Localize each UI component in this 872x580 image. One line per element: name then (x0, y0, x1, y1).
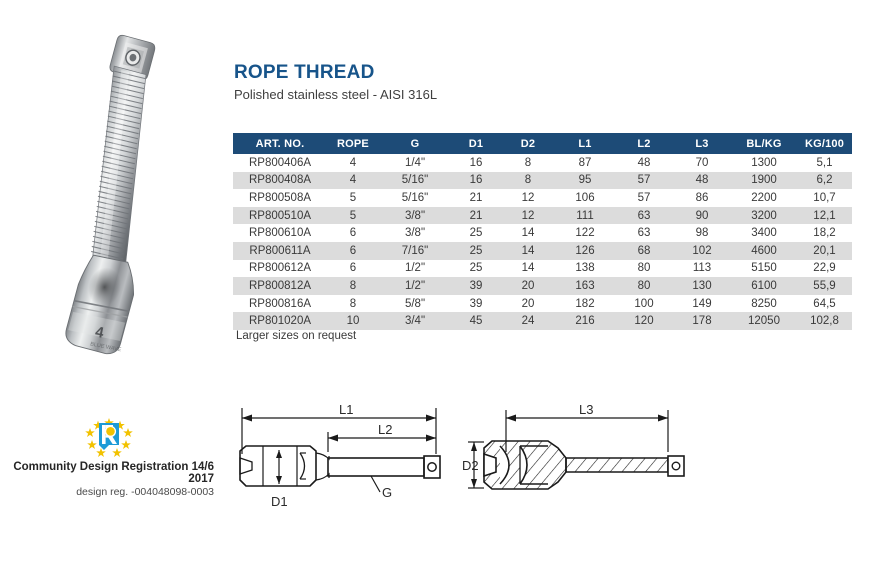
cell-g: 7/16" (379, 242, 451, 260)
cell-bl-kg: 8250 (731, 295, 797, 313)
table-row: RP801020A103/4"452421612017812050102,8 (233, 312, 852, 330)
cell-kg-100: 20,1 (797, 242, 852, 260)
label-d1: D1 (271, 494, 288, 509)
label-d2: D2 (462, 458, 479, 473)
cell-bl-kg: 5150 (731, 260, 797, 278)
cell-d2: 12 (501, 189, 555, 207)
cell-g: 1/2" (379, 260, 451, 278)
cell-bl-kg: 4600 (731, 242, 797, 260)
cell-d2: 20 (501, 277, 555, 295)
page-subtitle: Polished stainless steel - AISI 316L (234, 87, 437, 102)
cell-l1: 126 (555, 242, 615, 260)
rope-thread-terminal-photo: 4 BLUE WAVE (18, 18, 208, 363)
cell-l3: 98 (673, 224, 731, 242)
cell-l1: 106 (555, 189, 615, 207)
cell-l2: 63 (615, 207, 673, 225)
table-row: RP800611A67/16"251412668102460020,1 (233, 242, 852, 260)
column-header-rope: ROPE (327, 133, 379, 154)
column-header-bl-kg: BL/KG (731, 133, 797, 154)
cell-l1: 111 (555, 207, 615, 225)
cell-kg-100: 102,8 (797, 312, 852, 330)
cell-d1: 45 (451, 312, 501, 330)
cell-d2: 20 (501, 295, 555, 313)
column-header-l2: L2 (615, 133, 673, 154)
table-row: RP800408A45/16"16895574819006,2 (233, 172, 852, 190)
table-row: RP800812A81/2"392016380130610055,9 (233, 277, 852, 295)
cell-bl-kg: 1300 (731, 154, 797, 172)
cell-l2: 100 (615, 295, 673, 313)
table-row: RP800612A61/2"251413880113515022,9 (233, 260, 852, 278)
cell-l1: 182 (555, 295, 615, 313)
table-row: RP800508A55/16"21121065786220010,7 (233, 189, 852, 207)
table-header-row: ART. NO. ROPE G D1 D2 L1 L2 L3 BL/KG KG/… (233, 133, 852, 154)
column-header-d2: D2 (501, 133, 555, 154)
cell-kg-100: 55,9 (797, 277, 852, 295)
product-photo: 4 BLUE WAVE (18, 18, 208, 363)
cell-d1: 16 (451, 172, 501, 190)
cell-rope: 6 (327, 242, 379, 260)
column-header-g: G (379, 133, 451, 154)
section-view-drawing: L3 D2 (462, 396, 694, 516)
label-l3: L3 (579, 402, 593, 417)
cell-rope: 4 (327, 172, 379, 190)
cell-bl-kg: 3400 (731, 224, 797, 242)
column-header-kg-100: KG/100 (797, 133, 852, 154)
cell-d1: 16 (451, 154, 501, 172)
cell-art-no: RP801020A (233, 312, 327, 330)
cell-l3: 130 (673, 277, 731, 295)
table-row: RP800816A85/8"3920182100149825064,5 (233, 295, 852, 313)
cell-bl-kg: 12050 (731, 312, 797, 330)
cell-g: 3/4" (379, 312, 451, 330)
cell-l2: 63 (615, 224, 673, 242)
cell-d1: 25 (451, 224, 501, 242)
cell-g: 5/8" (379, 295, 451, 313)
label-g: G (382, 485, 392, 500)
cell-d2: 24 (501, 312, 555, 330)
cell-kg-100: 5,1 (797, 154, 852, 172)
cell-d2: 14 (501, 260, 555, 278)
cell-l3: 90 (673, 207, 731, 225)
cell-l2: 48 (615, 154, 673, 172)
cell-bl-kg: 1900 (731, 172, 797, 190)
label-l1: L1 (339, 402, 353, 417)
cell-art-no: RP800610A (233, 224, 327, 242)
cell-kg-100: 12,1 (797, 207, 852, 225)
table-row: RP800406A41/4"16887487013005,1 (233, 154, 852, 172)
community-design-line2: design reg. -004048098-0003 (0, 486, 218, 498)
cell-kg-100: 18,2 (797, 224, 852, 242)
cell-kg-100: 6,2 (797, 172, 852, 190)
cell-l1: 95 (555, 172, 615, 190)
cell-art-no: RP800612A (233, 260, 327, 278)
cell-art-no: RP800406A (233, 154, 327, 172)
cell-l2: 57 (615, 172, 673, 190)
cell-g: 3/8" (379, 224, 451, 242)
cell-g: 3/8" (379, 207, 451, 225)
cell-d1: 25 (451, 242, 501, 260)
table-note: Larger sizes on request (236, 330, 356, 342)
cell-l2: 68 (615, 242, 673, 260)
cell-bl-kg: 6100 (731, 277, 797, 295)
cell-l3: 102 (673, 242, 731, 260)
label-l2: L2 (378, 422, 392, 437)
cell-rope: 4 (327, 154, 379, 172)
column-header-art-no: ART. NO. (233, 133, 327, 154)
cell-rope: 8 (327, 277, 379, 295)
cell-g: 1/4" (379, 154, 451, 172)
table-row: RP800610A63/8"25141226398340018,2 (233, 224, 852, 242)
cell-kg-100: 22,9 (797, 260, 852, 278)
cell-d1: 39 (451, 277, 501, 295)
cell-art-no: RP800508A (233, 189, 327, 207)
cell-d1: 21 (451, 207, 501, 225)
column-header-l3: L3 (673, 133, 731, 154)
community-design-line1: Community Design Registration 14/6 2017 (0, 461, 218, 485)
cell-rope: 6 (327, 224, 379, 242)
cell-d1: 21 (451, 189, 501, 207)
cell-art-no: RP800812A (233, 277, 327, 295)
cell-d1: 25 (451, 260, 501, 278)
cell-d2: 14 (501, 242, 555, 260)
cell-l3: 48 (673, 172, 731, 190)
cell-rope: 8 (327, 295, 379, 313)
page-title: ROPE THREAD (234, 62, 375, 84)
cell-d2: 8 (501, 154, 555, 172)
cell-l1: 122 (555, 224, 615, 242)
cell-l2: 57 (615, 189, 673, 207)
cell-l2: 80 (615, 260, 673, 278)
cell-bl-kg: 3200 (731, 207, 797, 225)
cell-g: 5/16" (379, 189, 451, 207)
cell-g: 1/2" (379, 277, 451, 295)
cell-rope: 6 (327, 260, 379, 278)
cell-kg-100: 64,5 (797, 295, 852, 313)
cell-l3: 149 (673, 295, 731, 313)
cell-rope: 5 (327, 189, 379, 207)
cell-l2: 120 (615, 312, 673, 330)
cell-l1: 87 (555, 154, 615, 172)
column-header-d1: D1 (451, 133, 501, 154)
cell-d2: 12 (501, 207, 555, 225)
cell-art-no: RP800816A (233, 295, 327, 313)
cell-d1: 39 (451, 295, 501, 313)
cell-l1: 216 (555, 312, 615, 330)
cell-l3: 70 (673, 154, 731, 172)
cell-l3: 113 (673, 260, 731, 278)
cell-d2: 8 (501, 172, 555, 190)
specifications-table: ART. NO. ROPE G D1 D2 L1 L2 L3 BL/KG KG/… (233, 133, 852, 330)
cell-rope: 5 (327, 207, 379, 225)
cell-rope: 10 (327, 312, 379, 330)
swage-body: 4 BLUE WAVE (63, 251, 144, 357)
column-header-l1: L1 (555, 133, 615, 154)
cell-l3: 86 (673, 189, 731, 207)
cell-kg-100: 10,7 (797, 189, 852, 207)
cell-l1: 163 (555, 277, 615, 295)
cell-l3: 178 (673, 312, 731, 330)
cell-art-no: RP800408A (233, 172, 327, 190)
cell-l2: 80 (615, 277, 673, 295)
cell-art-no: RP800510A (233, 207, 327, 225)
side-view-drawing: L1 L2 D1 G (232, 396, 464, 516)
community-design-block: Community Design Registration 14/6 2017 … (0, 418, 218, 498)
cell-d2: 14 (501, 224, 555, 242)
cell-g: 5/16" (379, 172, 451, 190)
cell-l1: 138 (555, 260, 615, 278)
threaded-shaft (64, 66, 174, 268)
eu-community-design-logo (82, 418, 136, 458)
cell-art-no: RP800611A (233, 242, 327, 260)
table-row: RP800510A53/8"21121116390320012,1 (233, 207, 852, 225)
cell-bl-kg: 2200 (731, 189, 797, 207)
